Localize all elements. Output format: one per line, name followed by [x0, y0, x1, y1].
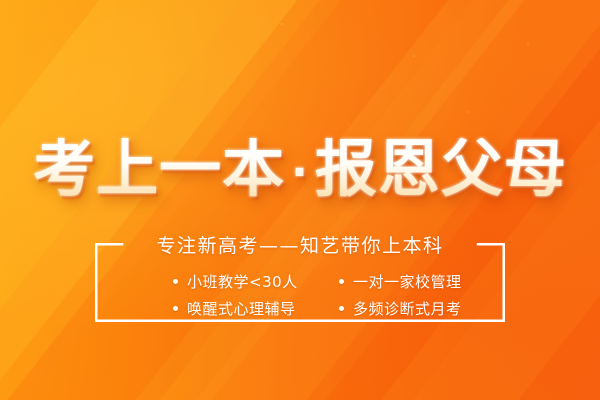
bullet-dot-icon — [339, 279, 344, 284]
headline-separator-dot: · — [285, 147, 315, 198]
feature-label: 一对一家校管理 — [353, 271, 462, 292]
subtitle-container: 专注新高考——知艺带你上本科 — [0, 231, 600, 258]
headline-container: 考上一本·报恩父母 — [0, 138, 600, 200]
headline-text: 考上一本·报恩父母 — [33, 138, 567, 200]
feature-item: 一对一家校管理 — [339, 271, 462, 292]
feature-item: 多频诊断式月考 — [339, 298, 462, 319]
feature-list: 小班教学<30人 一对一家校管理 唤醒式心理辅导 多频诊断式月考 — [95, 268, 505, 322]
feature-label: 多频诊断式月考 — [353, 298, 462, 319]
bullet-dot-icon — [173, 306, 178, 311]
feature-label: 小班教学<30人 — [187, 271, 298, 292]
feature-item: 小班教学<30人 — [173, 271, 298, 292]
headline-right: 报恩父母 — [315, 132, 567, 205]
feature-item: 唤醒式心理辅导 — [173, 298, 296, 319]
bullet-dot-icon — [339, 306, 344, 311]
headline-left: 考上一本 — [33, 132, 285, 205]
subtitle-text: 专注新高考——知艺带你上本科 — [156, 231, 443, 258]
bullet-dot-icon — [173, 279, 178, 284]
feature-label: 唤醒式心理辅导 — [187, 298, 296, 319]
promo-banner: 考上一本·报恩父母 专注新高考——知艺带你上本科 小班教学<30人 一对一家校管… — [0, 0, 600, 400]
